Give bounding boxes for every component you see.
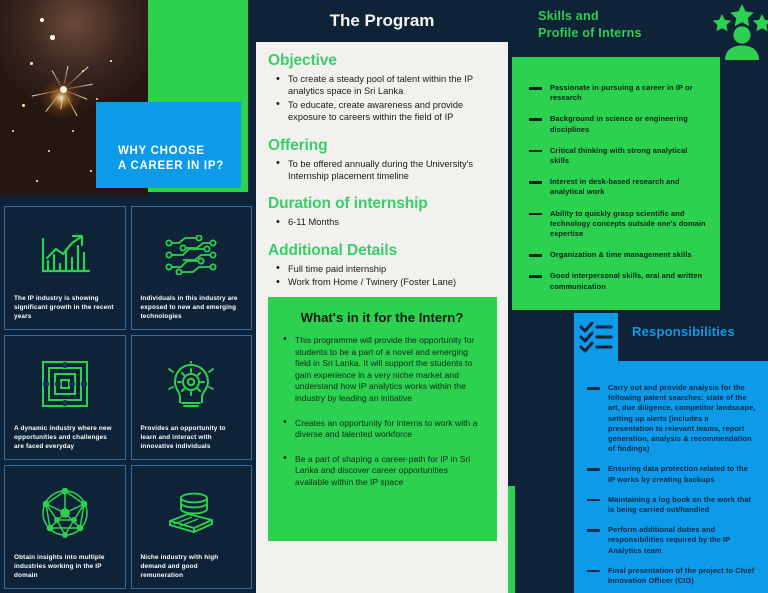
skills-panel: Passionate in pursuing a career in IP or… [512, 57, 720, 310]
intern-benefits-box: What's in it for the Intern? This progra… [268, 297, 497, 541]
list-item: Background in science or engineering dis… [526, 114, 706, 134]
list-item: To create a steady pool of talent within… [272, 73, 496, 98]
list-item: Final presentation of the project to Chi… [584, 566, 756, 586]
benefit-card-grid: The IP industry is showing significant g… [4, 206, 252, 589]
responsibilities-panel: Carry out and provide analysis for the f… [574, 361, 768, 593]
list-item: This programme will provide the opportun… [281, 335, 483, 405]
skills-header: Skills and Profile of Interns [526, 4, 766, 54]
duration-list: 6-11 Months [272, 216, 496, 228]
section-heading-duration: Duration of internship [268, 195, 496, 213]
section-heading-objective: Objective [268, 52, 496, 70]
list-item: Good interpersonal skills, oral and writ… [526, 271, 706, 291]
skills-list: Passionate in pursuing a career in IP or… [526, 83, 706, 292]
checklist-icon [574, 313, 618, 361]
benefit-card-text: Obtain insights into multiple industries… [14, 553, 116, 580]
program-title: The Program [330, 11, 435, 31]
benefit-card[interactable]: Individuals in this industry are exposed… [131, 206, 253, 330]
list-item: Carry out and provide analysis for the f… [584, 383, 756, 454]
benefit-card-text: The IP industry is showing significant g… [14, 294, 116, 321]
program-header: The Program [256, 0, 508, 42]
why-choose-career-panel: WHY CHOOSE A CAREER IN IP? [96, 102, 241, 188]
green-edge-accent [508, 486, 515, 593]
list-item: Creates an opportunity for interns to wo… [281, 418, 483, 441]
list-item: Be a part of shaping a career-path for I… [281, 454, 483, 489]
why-choose-line2: A CAREER IN IP? [118, 159, 241, 174]
list-item: Maintaining a log book on the work that … [584, 495, 756, 515]
responsibilities-title: Responsibilities [632, 324, 735, 339]
list-item: Ability to quickly grasp scientific and … [526, 209, 706, 240]
lightbulb-gear-head-icon [141, 344, 243, 423]
list-item: Interest in desk-based research and anal… [526, 177, 706, 197]
skills-title-line2: Profile of Interns [538, 25, 642, 42]
objective-list: To create a steady pool of talent within… [272, 73, 496, 124]
program-column: The Program Objective To create a steady… [256, 0, 508, 593]
list-item: Full time paid internship [272, 263, 496, 275]
list-item: To educate, create awareness and provide… [272, 99, 496, 124]
responsibilities-list: Carry out and provide analysis for the f… [584, 383, 756, 586]
additional-details-list: Full time paid internship Work from Home… [272, 263, 496, 289]
network-sphere-icon [14, 474, 116, 553]
section-heading-offering: Offering [268, 137, 496, 155]
circuit-network-icon [141, 215, 243, 294]
offering-list: To be offered annually during the Univer… [272, 158, 496, 183]
benefit-card-text: A dynamic industry where new opportuniti… [14, 424, 116, 451]
list-item: Work from Home / Twinery (Foster Lane) [272, 276, 496, 288]
right-column: Skills and Profile of Interns Passionate… [508, 0, 768, 593]
skills-title-line1: Skills and [538, 8, 642, 25]
why-choose-line1: WHY CHOOSE [118, 144, 241, 159]
benefit-card-text: Individuals in this industry are exposed… [141, 294, 243, 321]
money-stack-icon [141, 474, 243, 553]
benefit-card[interactable]: The IP industry is showing significant g… [4, 206, 126, 330]
person-three-stars-icon [712, 4, 768, 65]
left-column: WHY CHOOSE A CAREER IN IP? The IP indust… [0, 0, 256, 593]
benefit-card[interactable]: A dynamic industry where new opportuniti… [4, 335, 126, 459]
list-item: To be offered annually during the Univer… [272, 158, 496, 183]
list-item: Perform additional duties and responsibi… [584, 525, 756, 556]
infographic-page: WHY CHOOSE A CAREER IN IP? The IP indust… [0, 0, 768, 593]
list-item: Passionate in pursuing a career in IP or… [526, 83, 706, 103]
maze-icon [14, 344, 116, 423]
list-item: 6-11 Months [272, 216, 496, 228]
intern-benefits-title: What's in it for the Intern? [281, 310, 483, 325]
benefit-card[interactable]: Provides an opportunity to learn and int… [131, 335, 253, 459]
benefit-card[interactable]: Obtain insights into multiple industries… [4, 465, 126, 589]
skills-title: Skills and Profile of Interns [538, 8, 642, 41]
list-item: Organization & time management skills [526, 250, 706, 260]
benefit-card-text: Provides an opportunity to learn and int… [141, 424, 243, 451]
bar-chart-growth-icon [14, 215, 116, 294]
list-item: Ensuring data protection related to the … [584, 464, 756, 484]
benefit-card[interactable]: Niche industry with high demand and good… [131, 465, 253, 589]
intern-benefits-list: This programme will provide the opportun… [281, 335, 483, 489]
benefit-card-text: Niche industry with high demand and good… [141, 553, 243, 580]
section-heading-additional-details: Additional Details [268, 242, 496, 260]
list-item: Critical thinking with strong analytical… [526, 146, 706, 166]
